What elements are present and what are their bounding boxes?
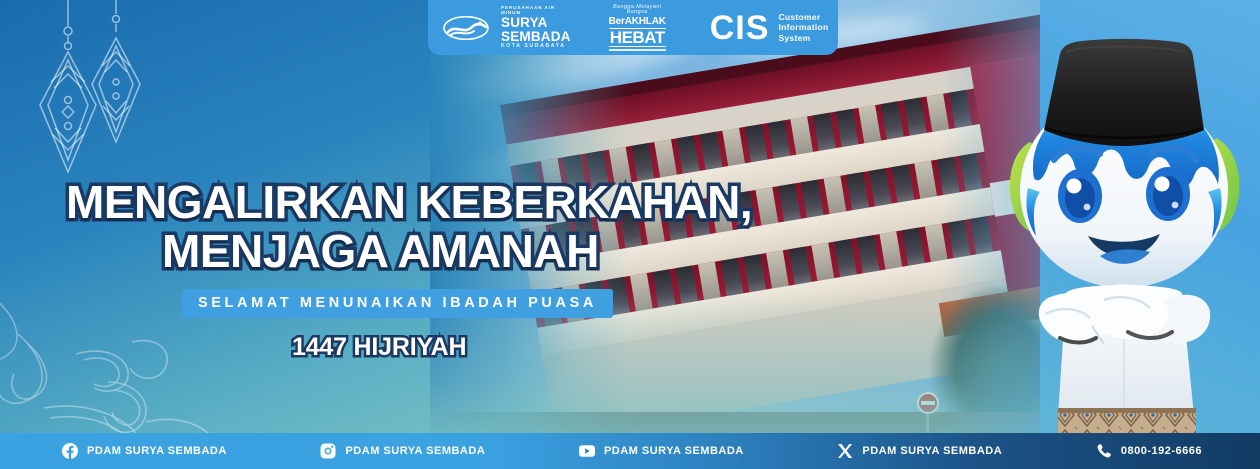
pdam-mascot xyxy=(988,38,1260,440)
pdam-name: SURYA SEMBADA xyxy=(501,16,571,43)
footer-label-youtube: PDAM SURYA SEMBADA xyxy=(604,445,744,457)
footer-item-phone[interactable]: 0800-192-6666 xyxy=(1096,443,1260,459)
pdam-city: KOTA SURABAYA xyxy=(501,44,571,49)
cis-line-1: Customer xyxy=(778,12,828,22)
footer-label-facebook: PDAM SURYA SEMBADA xyxy=(87,445,227,457)
hijriyah-year: 1447 HIJRIYAH xyxy=(292,333,466,362)
logo-badge: PERUSAHAAN AIR MINUM SURYA SEMBADA KOTA … xyxy=(428,0,838,55)
cis-line-3: System xyxy=(778,33,828,43)
pdam-top-line: PERUSAHAAN AIR MINUM xyxy=(501,6,571,15)
cis-expansion: Customer Information System xyxy=(778,12,828,42)
mascot-peci-hat xyxy=(1044,39,1204,146)
cis-logo: CIS Customer Information System xyxy=(710,11,829,45)
water-drop-leaf-motif xyxy=(0,296,310,446)
hebat-label: HEBAT xyxy=(609,28,666,47)
youtube-icon xyxy=(579,443,595,459)
phone-icon xyxy=(1096,443,1112,459)
footer-item-youtube[interactable]: PDAM SURYA SEMBADA xyxy=(579,443,744,459)
headline-line-2: MENJAGA AMANAH xyxy=(66,227,752,276)
x-twitter-icon xyxy=(837,443,853,459)
water-wave-icon xyxy=(442,15,494,41)
cis-line-2: Information xyxy=(778,22,828,32)
berakhlak-label: BerAKHLAK xyxy=(609,17,666,27)
berakhlak-tagline: Bangga Melayani Bangsa xyxy=(609,5,666,16)
pdam-logo: PERUSAHAAN AIR MINUM SURYA SEMBADA KOTA … xyxy=(442,6,571,49)
mascot-eye-right xyxy=(1146,167,1190,221)
instagram-icon xyxy=(320,443,336,459)
berakhlak-hebat-logo: Bangga Melayani Bangsa BerAKHLAK HEBAT xyxy=(609,5,666,51)
footer-item-x-twitter[interactable]: PDAM SURYA SEMBADA xyxy=(837,443,1002,459)
social-footer-bar: PDAM SURYA SEMBADA PDAM SURYA SEMBADA PD… xyxy=(0,433,1260,469)
footer-item-facebook[interactable]: PDAM SURYA SEMBADA xyxy=(0,443,227,459)
mascot-eye-left xyxy=(1058,169,1102,223)
page-title: MENGALIRKAN KEBERKAHAN, MENJAGA AMANAH xyxy=(66,178,752,276)
footer-item-instagram[interactable]: PDAM SURYA SEMBADA xyxy=(320,443,485,459)
cis-acronym: CIS xyxy=(710,11,770,45)
hebat-underline xyxy=(609,49,666,51)
headline-line-1: MENGALIRKAN KEBERKAHAN, xyxy=(66,176,752,228)
promo-banner: PERUSAHAAN AIR MINUM SURYA SEMBADA KOTA … xyxy=(0,0,1260,469)
subtitle-band: SELAMAT MENUNAIKAN IBADAH PUASA xyxy=(182,289,613,318)
footer-label-instagram: PDAM SURYA SEMBADA xyxy=(345,445,485,457)
facebook-icon xyxy=(62,443,78,459)
footer-label-phone: 0800-192-6666 xyxy=(1121,445,1202,457)
mascot-hands xyxy=(1039,284,1210,344)
footer-label-x-twitter: PDAM SURYA SEMBADA xyxy=(862,445,1002,457)
